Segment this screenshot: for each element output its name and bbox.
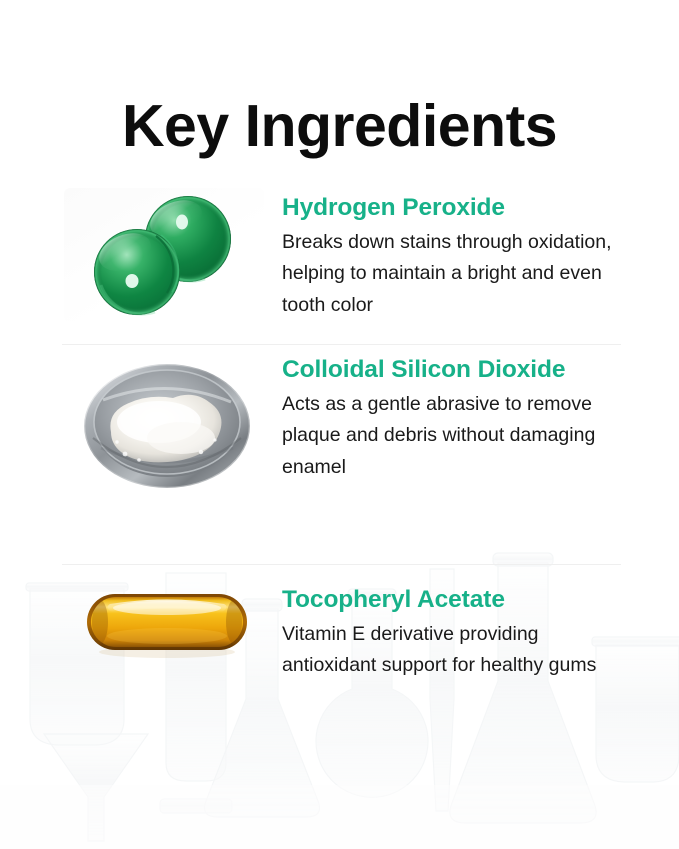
green-spheres-molecule-icon xyxy=(77,189,257,321)
amber-softgel-capsule-icon xyxy=(84,588,250,660)
ingredient-row: Tocopheryl Acetate Vitamin E derivative … xyxy=(0,564,679,744)
ingredient-text-1: Hydrogen Peroxide Breaks down stains thr… xyxy=(272,180,621,322)
ingredient-name: Tocopheryl Acetate xyxy=(282,586,621,615)
ingredient-text-3: Tocopheryl Acetate Vitamin E derivative … xyxy=(272,564,621,682)
ingredient-image-2 xyxy=(62,344,272,504)
ingredient-image-1 xyxy=(62,180,272,330)
ingredient-list: Hydrogen Peroxide Breaks down stains thr… xyxy=(0,180,679,744)
ingredient-description: Vitamin E derivative providing antioxida… xyxy=(282,619,612,682)
ingredient-description: Breaks down stains through oxidation, he… xyxy=(282,227,612,322)
ingredient-description: Acts as a gentle abrasive to remove plaq… xyxy=(282,389,612,484)
ingredient-text-2: Colloidal Silicon Dioxide Acts as a gent… xyxy=(272,344,621,484)
ingredient-row: Colloidal Silicon Dioxide Acts as a gent… xyxy=(0,344,679,564)
ingredient-name: Colloidal Silicon Dioxide xyxy=(282,356,621,385)
metal-dish-white-powder-icon xyxy=(81,356,253,492)
page-title: Key Ingredients xyxy=(0,96,679,158)
ingredient-name: Hydrogen Peroxide xyxy=(282,194,621,223)
key-ingredients-page: Key Ingredients xyxy=(0,0,679,849)
ingredient-row: Hydrogen Peroxide Breaks down stains thr… xyxy=(0,180,679,344)
ingredient-image-3 xyxy=(62,564,272,684)
